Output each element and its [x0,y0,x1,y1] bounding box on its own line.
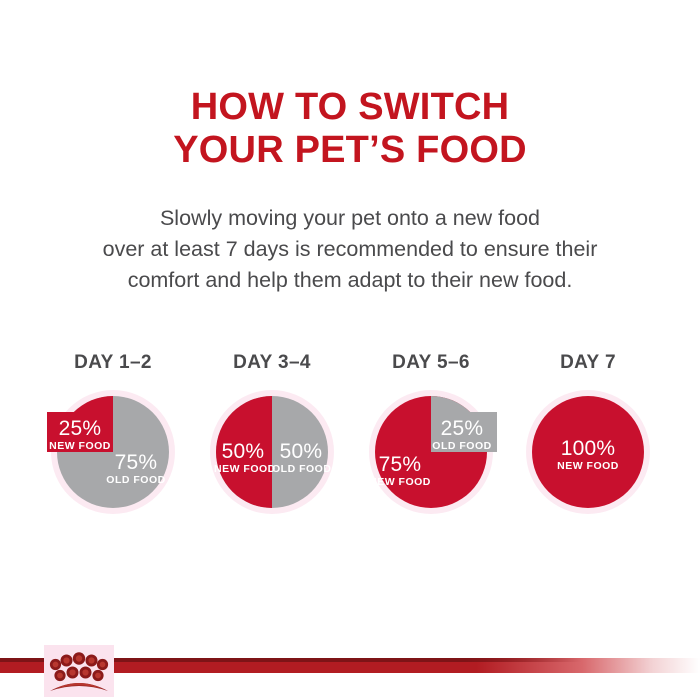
slice-name-new-2: NEW FOOD [214,464,272,475]
slice-label-new-food-2: 50% NEW FOOD [214,441,272,475]
slice-label-old-food-1: 75% OLD FOOD [103,452,169,486]
slice-value-new-3: 75% [367,454,433,475]
day-label-3: DAY 5–6 [351,352,511,374]
page-title-line-2: YOUR PET’S FOOD [0,129,700,172]
slice-name-new-1: NEW FOOD [47,441,113,452]
slice-value-new-1: 25% [47,418,113,439]
slice-label-new-food-4: 100% NEW FOOD [546,438,630,472]
pie-graphic-1: 25% NEW FOOD 75% OLD FOOD [57,396,169,508]
slice-name-new-4: NEW FOOD [546,461,630,472]
slice-label-old-food-3: 25% OLD FOOD [431,418,493,452]
slice-value-old-3: 25% [431,418,493,439]
footer-bar-right-shadow [112,658,582,662]
page-title: HOW TO SWITCH YOUR PET’S FOOD [0,86,700,172]
pie-chart-day-5-6: DAY 5–6 25% OLD FOOD 75% NEW FOOD [351,352,511,527]
royal-canin-crown-icon [44,645,114,697]
pie-graphic-4: 100% NEW FOOD [532,396,644,508]
intro-line-2: over at least 7 days is recommended to e… [0,234,700,265]
slice-name-old-2: OLD FOOD [272,464,330,475]
pie-graphic-2: 50% NEW FOOD 50% OLD FOOD [216,396,328,508]
footer-bar-left-shadow [0,658,48,662]
slice-value-new-2: 50% [214,441,272,462]
pie-chart-day-3-4: DAY 3–4 50% NEW FOOD 50% OLD FOOD [192,352,352,527]
intro-line-1: Slowly moving your pet onto a new food [0,203,700,234]
pie-chart-row: DAY 1–2 25% NEW FOOD 75% OLD FOOD [0,352,700,527]
slice-label-new-food-1: 25% NEW FOOD [47,418,113,452]
slice-value-old-1: 75% [103,452,169,473]
pie-graphic-3: 25% OLD FOOD 75% NEW FOOD [375,396,487,508]
intro-paragraph: Slowly moving your pet onto a new food o… [0,203,700,296]
page-title-line-1: HOW TO SWITCH [0,86,700,129]
slice-value-old-2: 50% [272,441,330,462]
day-label-2: DAY 3–4 [192,352,352,374]
slice-label-new-food-3: 75% NEW FOOD [367,454,433,488]
pie-chart-day-7: DAY 7 100% NEW FOOD [508,352,668,527]
slice-name-new-3: NEW FOOD [367,477,433,488]
intro-line-3: comfort and help them adapt to their new… [0,265,700,296]
slice-label-old-food-2: 50% OLD FOOD [272,441,330,475]
footer [0,655,700,700]
day-label-4: DAY 7 [508,352,668,374]
slice-name-old-1: OLD FOOD [103,475,169,486]
day-label-1: DAY 1–2 [33,352,193,374]
slice-value-new-4: 100% [546,438,630,459]
pie-chart-day-1-2: DAY 1–2 25% NEW FOOD 75% OLD FOOD [33,352,193,527]
infographic-page: HOW TO SWITCH YOUR PET’S FOOD Slowly mov… [0,0,700,700]
slice-name-old-3: OLD FOOD [431,441,493,452]
